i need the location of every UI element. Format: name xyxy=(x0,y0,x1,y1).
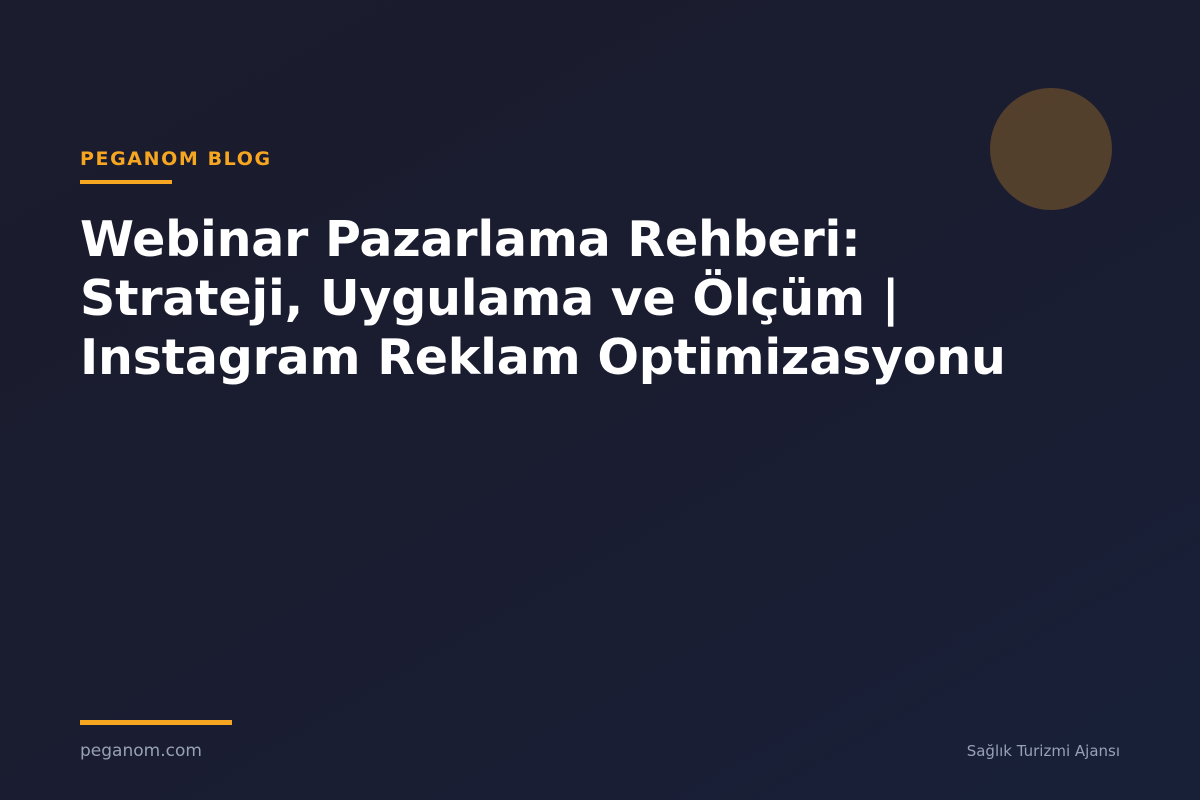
blog-kicker-label: PEGANOM BLOG xyxy=(80,148,1080,170)
site-url-label: peganom.com xyxy=(80,740,202,762)
footer-accent-rule xyxy=(80,720,232,725)
page-title: Webinar Pazarlama Rehberi: Strateji, Uyg… xyxy=(80,210,1090,387)
banner-footer: peganom.com Sağlık Turizmi Ajansı xyxy=(80,720,1120,762)
footer-row: peganom.com Sağlık Turizmi Ajansı xyxy=(80,740,1120,762)
kicker-accent-rule xyxy=(80,180,172,184)
tagline-label: Sağlık Turizmi Ajansı xyxy=(967,740,1120,762)
blog-cover-banner: PEGANOM BLOG Webinar Pazarlama Rehberi: … xyxy=(0,0,1200,800)
banner-header: PEGANOM BLOG xyxy=(80,148,1080,184)
